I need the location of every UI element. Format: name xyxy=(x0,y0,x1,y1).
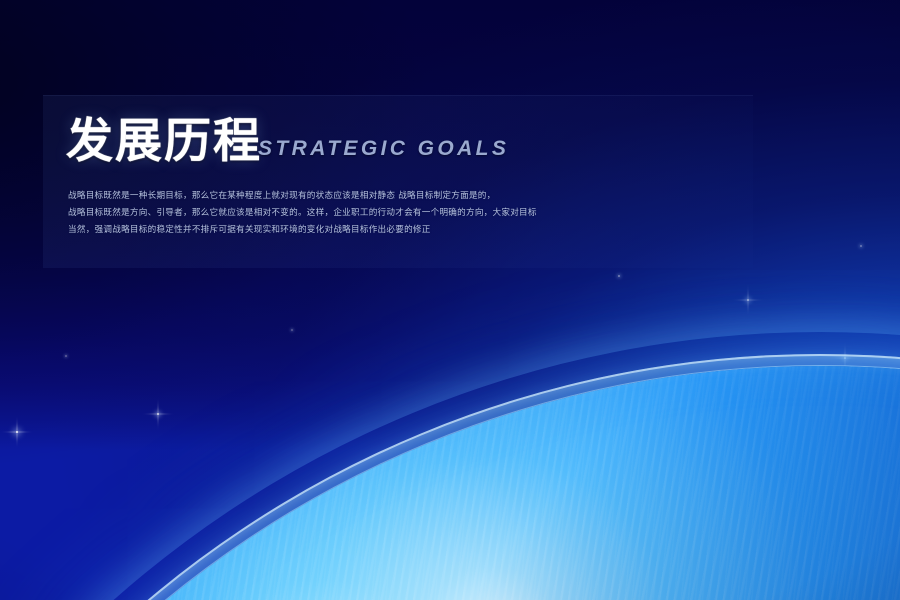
body-copy-line: 战略目标既然是一种长期目标，那么它在某种程度上就对现有的状态应该是相对静态 战略… xyxy=(68,188,768,205)
body-copy-line: 战略目标既然是方向、引导者，那么它就应该是相对不变的。这样，企业职工的行动才会有… xyxy=(68,205,768,222)
page-title-english: STRATEGIC GOALS xyxy=(258,137,509,161)
body-copy: 战略目标既然是一种长期目标，那么它在某种程度上就对现有的状态应该是相对静态 战略… xyxy=(68,188,768,239)
earth-globe xyxy=(0,270,900,600)
page-title-chinese: 发展历程 xyxy=(66,118,262,165)
body-copy-line: 当然，强调战略目标的稳定性并不排斥可据有关现实和环境的变化对战略目标作出必要的修… xyxy=(68,222,768,239)
banner-stage: 发展历程 STRATEGIC GOALS 战略目标既然是一种长期目标，那么它在某… xyxy=(0,0,900,600)
page-title: 发展历程 STRATEGIC GOALS xyxy=(66,118,509,165)
